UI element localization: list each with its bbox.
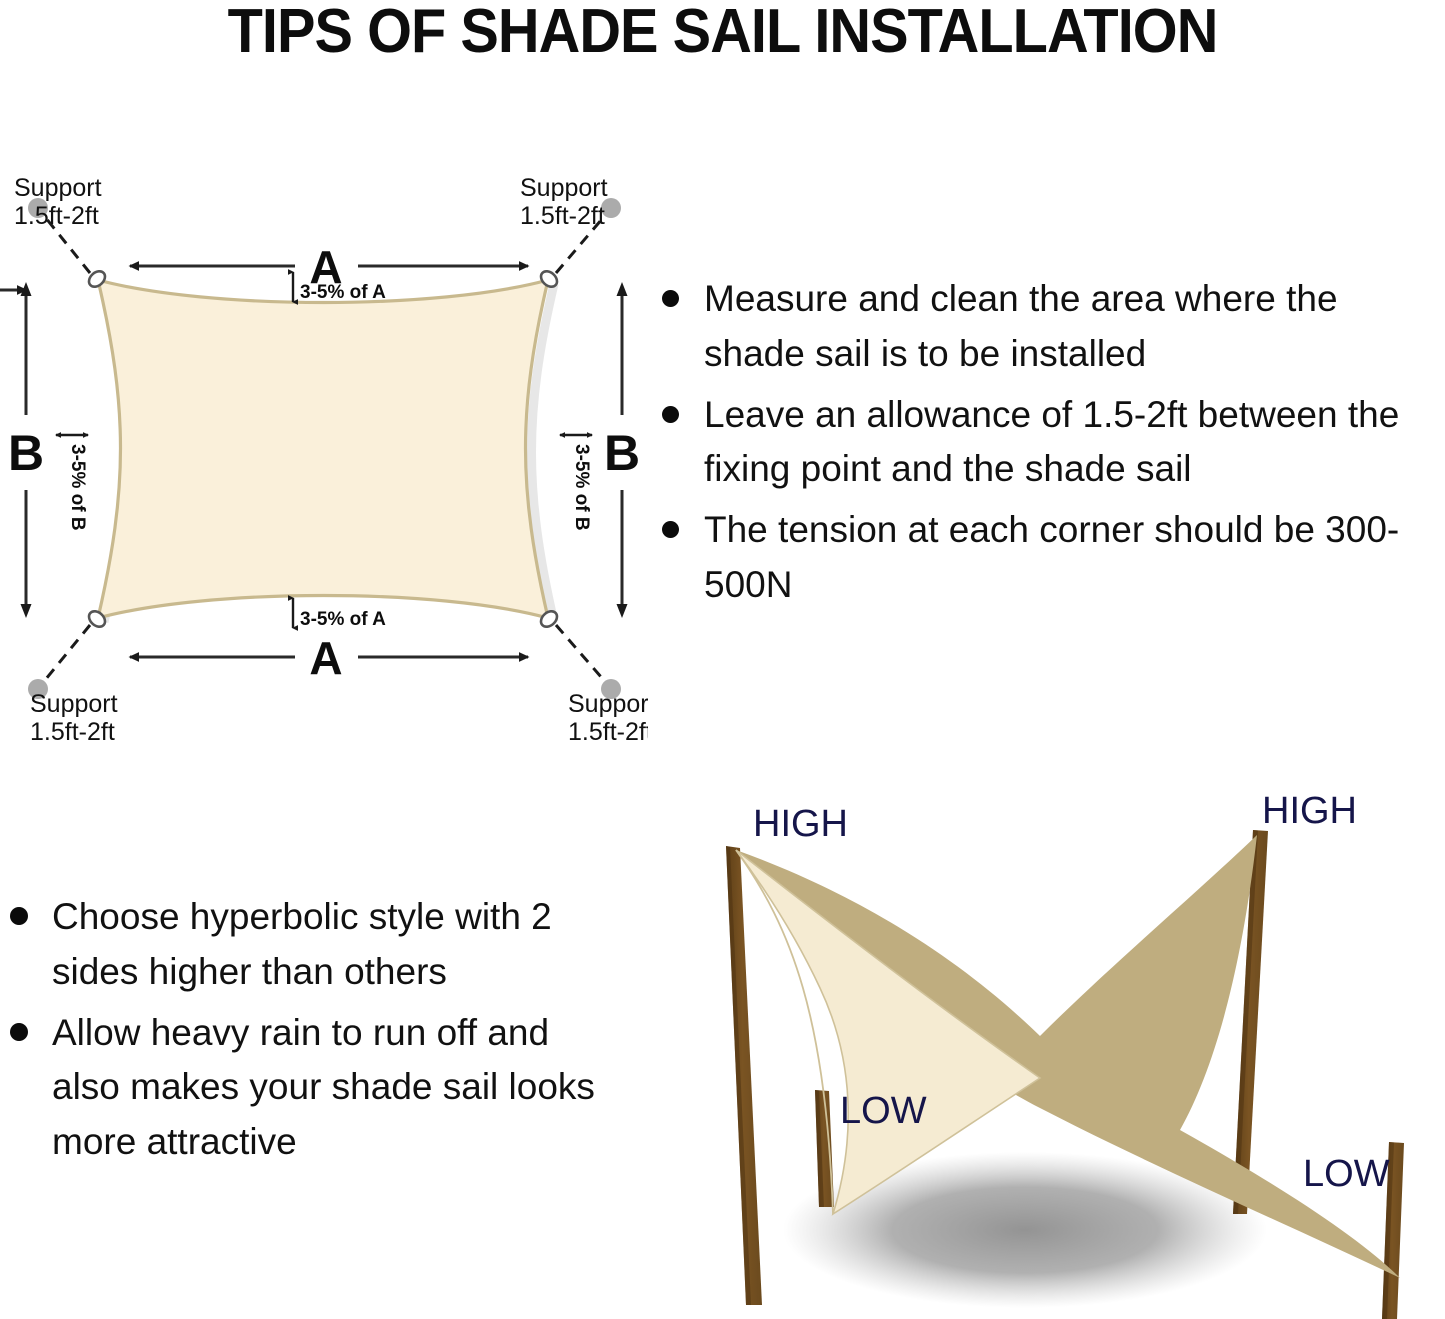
bullet-dot-icon xyxy=(662,290,679,307)
support-label-bottom-left: Support 1.5ft-2ft xyxy=(30,690,118,746)
support-label-bottom-right: Support 1.5ft-2ft xyxy=(568,690,648,746)
curve-label-top: 3-5% of A xyxy=(300,282,386,303)
list-item: Choose hyperbolic style with 2 sides hig… xyxy=(2,890,622,1000)
svg-text:1.5ft-2ft: 1.5ft-2ft xyxy=(520,202,605,230)
tips-ul: Measure and clean the area where the sha… xyxy=(648,272,1445,613)
shade-sail-shape xyxy=(98,280,548,618)
dimension-label-b-left: B xyxy=(8,425,44,481)
top-diagram-svg: A 3-5% of A A 3-5% of A B xyxy=(0,150,648,750)
support-line-bottom-right xyxy=(556,625,608,685)
dimension-label-a-bottom: A xyxy=(309,632,342,684)
list-item-text: Allow heavy rain to run off and also mak… xyxy=(52,1012,595,1163)
svg-text:Support: Support xyxy=(568,690,648,718)
list-item: Measure and clean the area where the sha… xyxy=(648,272,1445,382)
curve-callout-left: 3-5% of B xyxy=(56,435,88,531)
list-item-text: Leave an allowance of 1.5-2ft between th… xyxy=(704,394,1399,490)
label-low-left: LOW xyxy=(840,1090,927,1132)
curve-label-left: 3-5% of B xyxy=(67,444,88,531)
list-item: The tension at each corner should be 300… xyxy=(648,503,1445,613)
support-label-top-left: Support 1.5ft-2ft xyxy=(14,174,102,230)
curve-callout-bottom: 3-5% of A xyxy=(293,598,386,630)
bullet-dot-icon xyxy=(10,1023,28,1041)
dimension-b-left: B xyxy=(0,282,44,618)
label-low-right: LOW xyxy=(1303,1153,1390,1195)
page-root: TIPS OF SHADE SAIL INSTALLATION xyxy=(0,0,1445,1319)
dimension-b-right: B xyxy=(604,282,640,618)
installation-tips-list: Measure and clean the area where the sha… xyxy=(648,272,1445,619)
svg-text:Support: Support xyxy=(520,174,608,202)
page-title: TIPS OF SHADE SAIL INSTALLATION xyxy=(51,0,1395,67)
bullet-dot-icon xyxy=(662,521,679,538)
hyperbolic-style-tips-list: Choose hyperbolic style with 2 sides hig… xyxy=(2,890,622,1176)
svg-text:1.5ft-2ft: 1.5ft-2ft xyxy=(568,718,648,746)
bullet-dot-icon xyxy=(662,406,679,423)
list-item-text: The tension at each corner should be 300… xyxy=(704,509,1399,605)
support-label-top-right: Support 1.5ft-2ft xyxy=(520,174,608,230)
curve-callout-right: 3-5% of B xyxy=(560,435,592,531)
svg-text:1.5ft-2ft: 1.5ft-2ft xyxy=(14,202,99,230)
post-high-left xyxy=(726,846,762,1305)
hyperbolic-shade-sail-svg: HIGH HIGH LOW LOW xyxy=(640,778,1445,1319)
list-item-text: Choose hyperbolic style with 2 sides hig… xyxy=(52,896,552,992)
label-high-right: HIGH xyxy=(1262,790,1357,832)
list-item-text: Measure and clean the area where the sha… xyxy=(704,278,1338,374)
list-item: Leave an allowance of 1.5-2ft between th… xyxy=(648,388,1445,498)
label-high-left: HIGH xyxy=(753,803,848,845)
tips-ul-bottom: Choose hyperbolic style with 2 sides hig… xyxy=(2,890,622,1170)
svg-text:1.5ft-2ft: 1.5ft-2ft xyxy=(30,718,115,746)
support-line-bottom-left xyxy=(41,625,90,685)
dimension-label-b-right: B xyxy=(604,425,640,481)
list-item: Allow heavy rain to run off and also mak… xyxy=(2,1006,622,1170)
svg-text:Support: Support xyxy=(30,690,118,718)
curve-label-bottom: 3-5% of A xyxy=(300,609,386,630)
svg-text:Support: Support xyxy=(14,174,102,202)
dimension-a-bottom: A xyxy=(130,632,528,684)
curve-label-right: 3-5% of B xyxy=(571,444,592,531)
bullet-dot-icon xyxy=(10,907,28,925)
